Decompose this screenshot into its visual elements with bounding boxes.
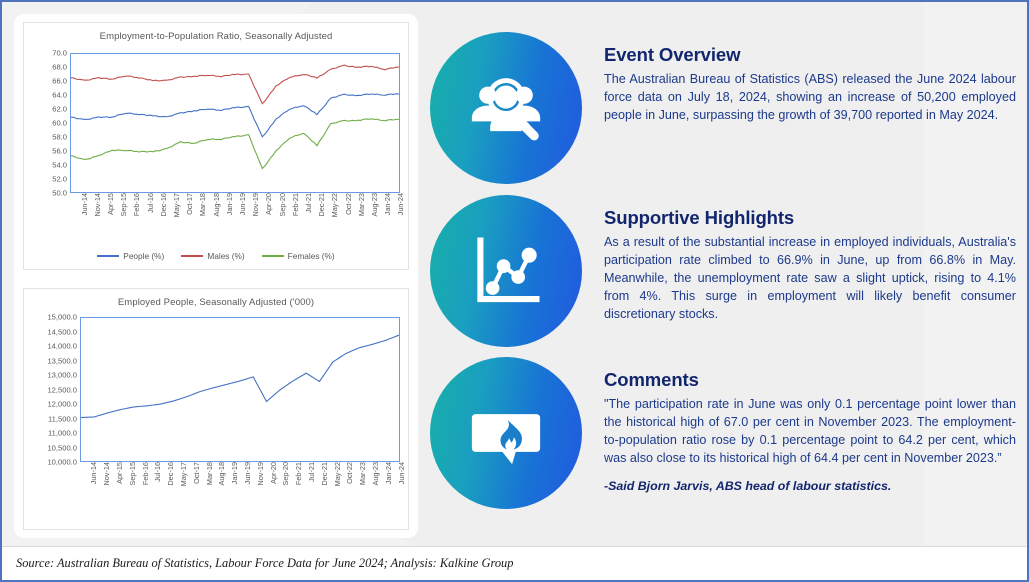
people-search-icon (467, 69, 545, 147)
x-axis-tick-label: Feb-21 (291, 193, 300, 216)
chart-title: Employment-to-Population Ratio, Seasonal… (24, 23, 408, 42)
sections-column: Event Overview The Australian Bureau of … (430, 2, 1029, 582)
chart-lines (81, 318, 399, 461)
y-axis-tick-label: 12,000.0 (47, 400, 80, 409)
series-line (71, 94, 399, 137)
icon-circle-comments (430, 357, 582, 509)
x-axis-tick-label: Jan-24 (384, 462, 393, 484)
y-axis-tick-label: 13,000.0 (47, 371, 80, 380)
y-axis-tick-label: 62.0 (52, 105, 70, 114)
y-axis-tick-label: 14,000.0 (47, 342, 80, 351)
x-axis-tick-label: Sep-20 (281, 462, 290, 486)
x-axis-tick-label: Apr-15 (106, 193, 115, 215)
y-axis-tick-label: 10,500.0 (47, 443, 80, 452)
x-axis-tick-label: May-22 (330, 193, 339, 217)
x-axis-tick-label: Jul-21 (307, 462, 316, 482)
y-axis-tick-label: 52.0 (52, 175, 70, 184)
x-axis-tick-label: Mar-18 (205, 462, 214, 485)
y-axis-tick-label: 60.0 (52, 119, 70, 128)
y-axis-tick-label: 54.0 (52, 161, 70, 170)
x-axis-tick-label: Feb-21 (294, 462, 303, 485)
legend-label: Males (%) (207, 251, 244, 261)
x-axis-tick-label: Jan-19 (225, 193, 234, 215)
y-axis-tick-label: 58.0 (52, 133, 70, 142)
x-axis-tick-label: Jan-19 (230, 462, 239, 484)
icon-circle-supportive-highlights (430, 195, 582, 347)
x-axis-tick-label: Sep-20 (278, 193, 287, 217)
x-axis-tick-label: Aug-18 (212, 193, 221, 217)
legend-label: People (%) (123, 251, 164, 261)
footer-source-bar: Source: Australian Bureau of Statistics,… (2, 546, 1027, 580)
x-axis-tick-label: Oct-22 (345, 462, 354, 484)
series-line (81, 335, 399, 417)
x-axis-tick-label: Dec-16 (159, 193, 168, 217)
legend-item: People (%) (97, 251, 164, 261)
charts-card: Employment-to-Population Ratio, Seasonal… (14, 14, 418, 538)
x-axis-tick-label: Mar-18 (198, 193, 207, 216)
x-axis-tick-label: Apr-20 (269, 462, 278, 484)
section-text: Comments "The participation rate in June… (604, 357, 1016, 493)
chart-employment-ratio: Employment-to-Population Ratio, Seasonal… (23, 22, 409, 270)
x-axis-tick-label: Apr-20 (264, 193, 273, 215)
legend-label: Females (%) (288, 251, 335, 261)
chart-employed-people: Employed People, Seasonally Adjusted ('0… (23, 288, 409, 530)
x-axis-tick-label: Aug-23 (371, 462, 380, 486)
series-line (71, 119, 399, 169)
x-axis-tick-label: Jun-19 (238, 193, 247, 215)
x-axis-tick-label: May-22 (333, 462, 342, 486)
y-axis-tick-label: 50.0 (52, 189, 70, 198)
speech-bubble-flame-icon (467, 394, 545, 472)
y-axis-tick-label: 14,500.0 (47, 327, 80, 336)
x-axis-tick-label: May-17 (179, 462, 188, 486)
x-axis-tick-label: Jun-24 (396, 193, 405, 215)
x-axis-tick-label: Jun-14 (89, 462, 98, 484)
section-body: The Australian Bureau of Statistics (ABS… (604, 70, 1016, 124)
section-heading: Event Overview (604, 44, 1016, 66)
x-axis-tick-label: Mar-23 (358, 462, 367, 485)
x-axis-tick-label: Feb-16 (141, 462, 150, 485)
x-axis-tick-label: Nov-19 (256, 462, 265, 486)
section-text: Event Overview The Australian Bureau of … (604, 32, 1016, 124)
x-axis-tick-label: Mar-23 (357, 193, 366, 216)
x-axis-tick-label: Jun-14 (80, 193, 89, 215)
line-chart-icon (467, 232, 545, 310)
y-axis-tick-label: 10,000.0 (47, 458, 80, 467)
y-axis-tick-label: 13,500.0 (47, 356, 80, 365)
y-axis-tick-label: 11,000.0 (48, 429, 80, 438)
legend-swatch (97, 255, 119, 257)
x-axis-tick-label: Jul-16 (153, 462, 162, 482)
section-body: "The participation rate in June was only… (604, 395, 1016, 467)
legend-item: Females (%) (262, 251, 335, 261)
y-axis-tick-label: 12,500.0 (47, 385, 80, 394)
y-axis-tick-label: 68.0 (52, 63, 70, 72)
x-axis-tick-label: Jan-24 (383, 193, 392, 215)
legend-swatch (181, 255, 203, 257)
chart-lines (71, 54, 399, 192)
series-line (71, 65, 399, 104)
x-axis-tick-label: Nov-19 (251, 193, 260, 217)
y-axis-tick-label: 66.0 (52, 77, 70, 86)
legend-item: Males (%) (181, 251, 244, 261)
y-axis-tick-label: 11,500.0 (48, 414, 80, 423)
section-body: As a result of the substantial increase … (604, 233, 1016, 323)
infographic-root: Employment-to-Population Ratio, Seasonal… (0, 0, 1029, 582)
x-axis-tick-label: Jul-21 (304, 193, 313, 213)
y-axis-tick-label: 70.0 (52, 49, 70, 58)
section-text: Supportive Highlights As a result of the… (604, 195, 1016, 323)
x-axis-tick-label: Oct-17 (192, 462, 201, 484)
x-axis-tick-label: Aug-18 (217, 462, 226, 486)
x-axis-tick-label: Dec-16 (166, 462, 175, 486)
y-axis-tick-label: 64.0 (52, 91, 70, 100)
x-axis-tick-label: Apr-15 (115, 462, 124, 484)
x-axis-tick-label: Dec-21 (320, 462, 329, 486)
section-event-overview: Event Overview The Australian Bureau of … (430, 32, 1016, 184)
x-axis-tick-label: Oct-17 (185, 193, 194, 215)
y-axis-tick-label: 15,000.0 (47, 313, 80, 322)
x-axis-tick-label: Jun-19 (243, 462, 252, 484)
section-heading: Supportive Highlights (604, 207, 1016, 229)
section-attribution: -Said Bjorn Jarvis, ABS head of labour s… (604, 479, 1016, 493)
chart-legend: People (%)Males (%)Females (%) (24, 251, 408, 261)
chart-plot-wrap: 15,000.014,500.014,000.013,500.013,000.0… (80, 317, 400, 462)
x-axis-tick-label: Nov-14 (93, 193, 102, 217)
footer-source-text: Source: Australian Bureau of Statistics,… (2, 556, 513, 571)
x-axis-tick-label: Sep-15 (119, 193, 128, 217)
x-axis-tick-label: Sep-15 (128, 462, 137, 486)
x-axis-tick-label: Oct-22 (344, 193, 353, 215)
x-axis-tick-label: May-17 (172, 193, 181, 217)
chart-title: Employed People, Seasonally Adjusted ('0… (24, 289, 408, 308)
y-axis-tick-label: 56.0 (52, 147, 70, 156)
section-heading: Comments (604, 369, 1016, 391)
x-axis-tick-label: Nov-14 (102, 462, 111, 486)
x-axis-tick-label: Dec-21 (317, 193, 326, 217)
chart-plot-wrap: 70.068.066.064.062.060.058.056.054.052.0… (70, 53, 400, 193)
section-supportive-highlights: Supportive Highlights As a result of the… (430, 195, 1016, 347)
x-axis-tick-label: Aug-23 (370, 193, 379, 217)
x-axis-tick-label: Jun-24 (397, 462, 406, 484)
x-axis-tick-label: Feb-16 (132, 193, 141, 216)
x-axis-tick-label: Jul-16 (146, 193, 155, 213)
legend-swatch (262, 255, 284, 257)
icon-circle-event-overview (430, 32, 582, 184)
section-comments: Comments "The participation rate in June… (430, 357, 1016, 509)
